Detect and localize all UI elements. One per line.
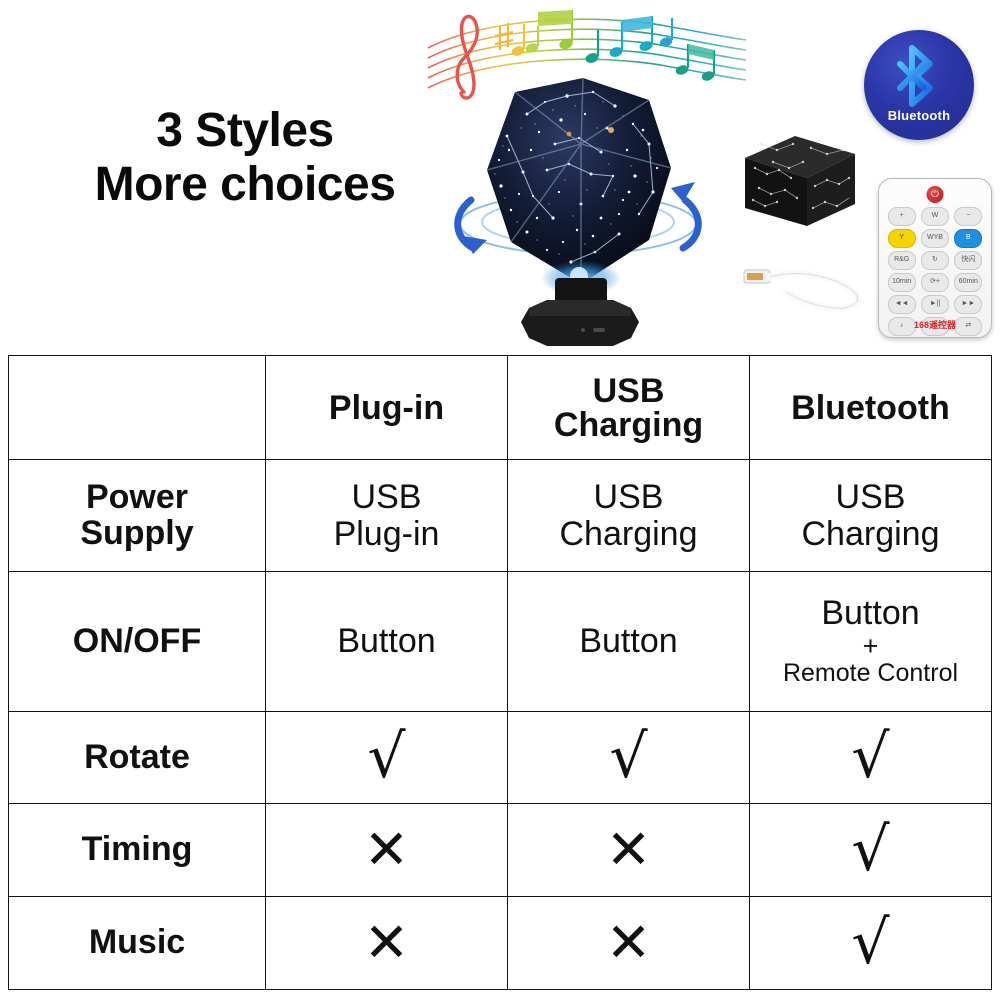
- cell-power-supply-usb-charging: USB Charging: [508, 460, 750, 572]
- cell-line: Button: [754, 595, 987, 632]
- cell-rotate-bluetooth-check-icon: √: [750, 711, 992, 804]
- cell-line: Button: [512, 623, 745, 660]
- remote-model-label: 168遥控器: [879, 318, 991, 331]
- cell-timing-usb-charging-cross-icon: ✕: [508, 804, 750, 897]
- row-label-rotate: Rotate: [9, 711, 266, 804]
- remote-button: 10min: [888, 273, 916, 292]
- cell-line: Button: [270, 623, 503, 660]
- headline-line-1: 3 Styles: [55, 104, 435, 158]
- remote-button: 60min: [954, 273, 982, 292]
- page-title: 3 Styles More choices: [55, 104, 435, 212]
- remote-button: W: [921, 207, 949, 226]
- table-row: Power Supply USB Plug-in USB Charging US…: [9, 460, 992, 572]
- bluetooth-icon: [892, 44, 946, 108]
- star-projector-lamp: [443, 72, 713, 355]
- cell-on-off-plug-in: Button: [266, 572, 508, 711]
- headline-line-2: More choices: [55, 158, 435, 212]
- table-row: Rotate √ √ √: [9, 711, 992, 804]
- remote-button: WYB: [921, 229, 949, 248]
- remote-control: ⏻ + W − Y WYB B R&G ↻ 快闪 10min ⟳+ 60min …: [878, 178, 992, 338]
- remote-button: −: [954, 207, 982, 226]
- table-row: Timing ✕ ✕ √: [9, 804, 992, 897]
- column-header-line: USB: [512, 374, 745, 408]
- row-label-line: ON/OFF: [13, 624, 261, 660]
- remote-button: ↻: [921, 251, 949, 270]
- remote-button-grid: + W − Y WYB B R&G ↻ 快闪 10min ⟳+ 60min ◄◄…: [886, 207, 984, 336]
- cell-line: USB: [512, 479, 745, 516]
- cell-on-off-bluetooth: Button + Remote Control: [750, 572, 992, 711]
- cell-line: USB: [754, 479, 987, 516]
- remote-power-button: ⏻: [927, 186, 944, 203]
- cell-line-plus: +: [754, 632, 987, 660]
- remote-button: ⟳+: [921, 273, 949, 292]
- remote-button: ◄◄: [888, 295, 916, 314]
- cell-line-remote: Remote Control: [754, 660, 987, 688]
- row-label-music: Music: [9, 897, 266, 990]
- remote-button: ►►: [954, 295, 982, 314]
- cell-rotate-usb-charging-check-icon: √: [508, 711, 750, 804]
- cell-line: Charging: [754, 516, 987, 553]
- remote-button-blue: B: [954, 229, 982, 248]
- remote-button: R&G: [888, 251, 916, 270]
- cell-rotate-plug-in-check-icon: √: [266, 711, 508, 804]
- table-row: Music ✕ ✕ √: [9, 897, 992, 990]
- row-label-line: Timing: [13, 832, 261, 868]
- hero-section: 3 Styles More choices: [0, 0, 1000, 355]
- column-header-line: Plug-in: [270, 391, 503, 425]
- row-label-line: Music: [13, 925, 261, 961]
- column-header-line: Charging: [512, 408, 745, 442]
- cell-timing-plug-in-cross-icon: ✕: [266, 804, 508, 897]
- column-header-bluetooth: Bluetooth: [750, 356, 992, 460]
- cell-timing-bluetooth-check-icon: √: [750, 804, 992, 897]
- row-label-line: Power: [13, 480, 261, 516]
- gift-box: [737, 128, 862, 233]
- bluetooth-badge-label: Bluetooth: [864, 108, 974, 123]
- remote-button: ►||: [921, 295, 949, 314]
- remote-button: 快闪: [954, 251, 982, 270]
- cell-music-plug-in-cross-icon: ✕: [266, 897, 508, 990]
- cell-music-usb-charging-cross-icon: ✕: [508, 897, 750, 990]
- remote-button: +: [888, 207, 916, 226]
- cell-power-supply-plug-in: USB Plug-in: [266, 460, 508, 572]
- cell-line: USB: [270, 479, 503, 516]
- row-label-timing: Timing: [9, 804, 266, 897]
- row-label-power-supply: Power Supply: [9, 460, 266, 572]
- table-row: ON/OFF Button Button Button + Remote Con…: [9, 572, 992, 711]
- cell-power-supply-bluetooth: USB Charging: [750, 460, 992, 572]
- comparison-table: Plug-in USB Charging Bluetooth Power Sup…: [8, 355, 992, 990]
- column-header-line: Bluetooth: [754, 391, 987, 425]
- column-header-plug-in: Plug-in: [266, 356, 508, 460]
- product-infographic: 3 Styles More choices: [0, 0, 1000, 1000]
- row-label-on-off: ON/OFF: [9, 572, 266, 711]
- row-label-line: Supply: [13, 516, 261, 552]
- row-label-line: Rotate: [13, 740, 261, 776]
- cell-line: Plug-in: [270, 516, 503, 553]
- cell-on-off-usb-charging: Button: [508, 572, 750, 711]
- table-corner-cell: [9, 356, 266, 460]
- remote-button-yellow: Y: [888, 229, 916, 248]
- bluetooth-badge: Bluetooth: [864, 30, 974, 140]
- cell-line: Charging: [512, 516, 745, 553]
- usb-cable: [742, 248, 872, 318]
- column-header-usb-charging: USB Charging: [508, 356, 750, 460]
- table-header-row: Plug-in USB Charging Bluetooth: [9, 356, 992, 460]
- cell-music-bluetooth-check-icon: √: [750, 897, 992, 990]
